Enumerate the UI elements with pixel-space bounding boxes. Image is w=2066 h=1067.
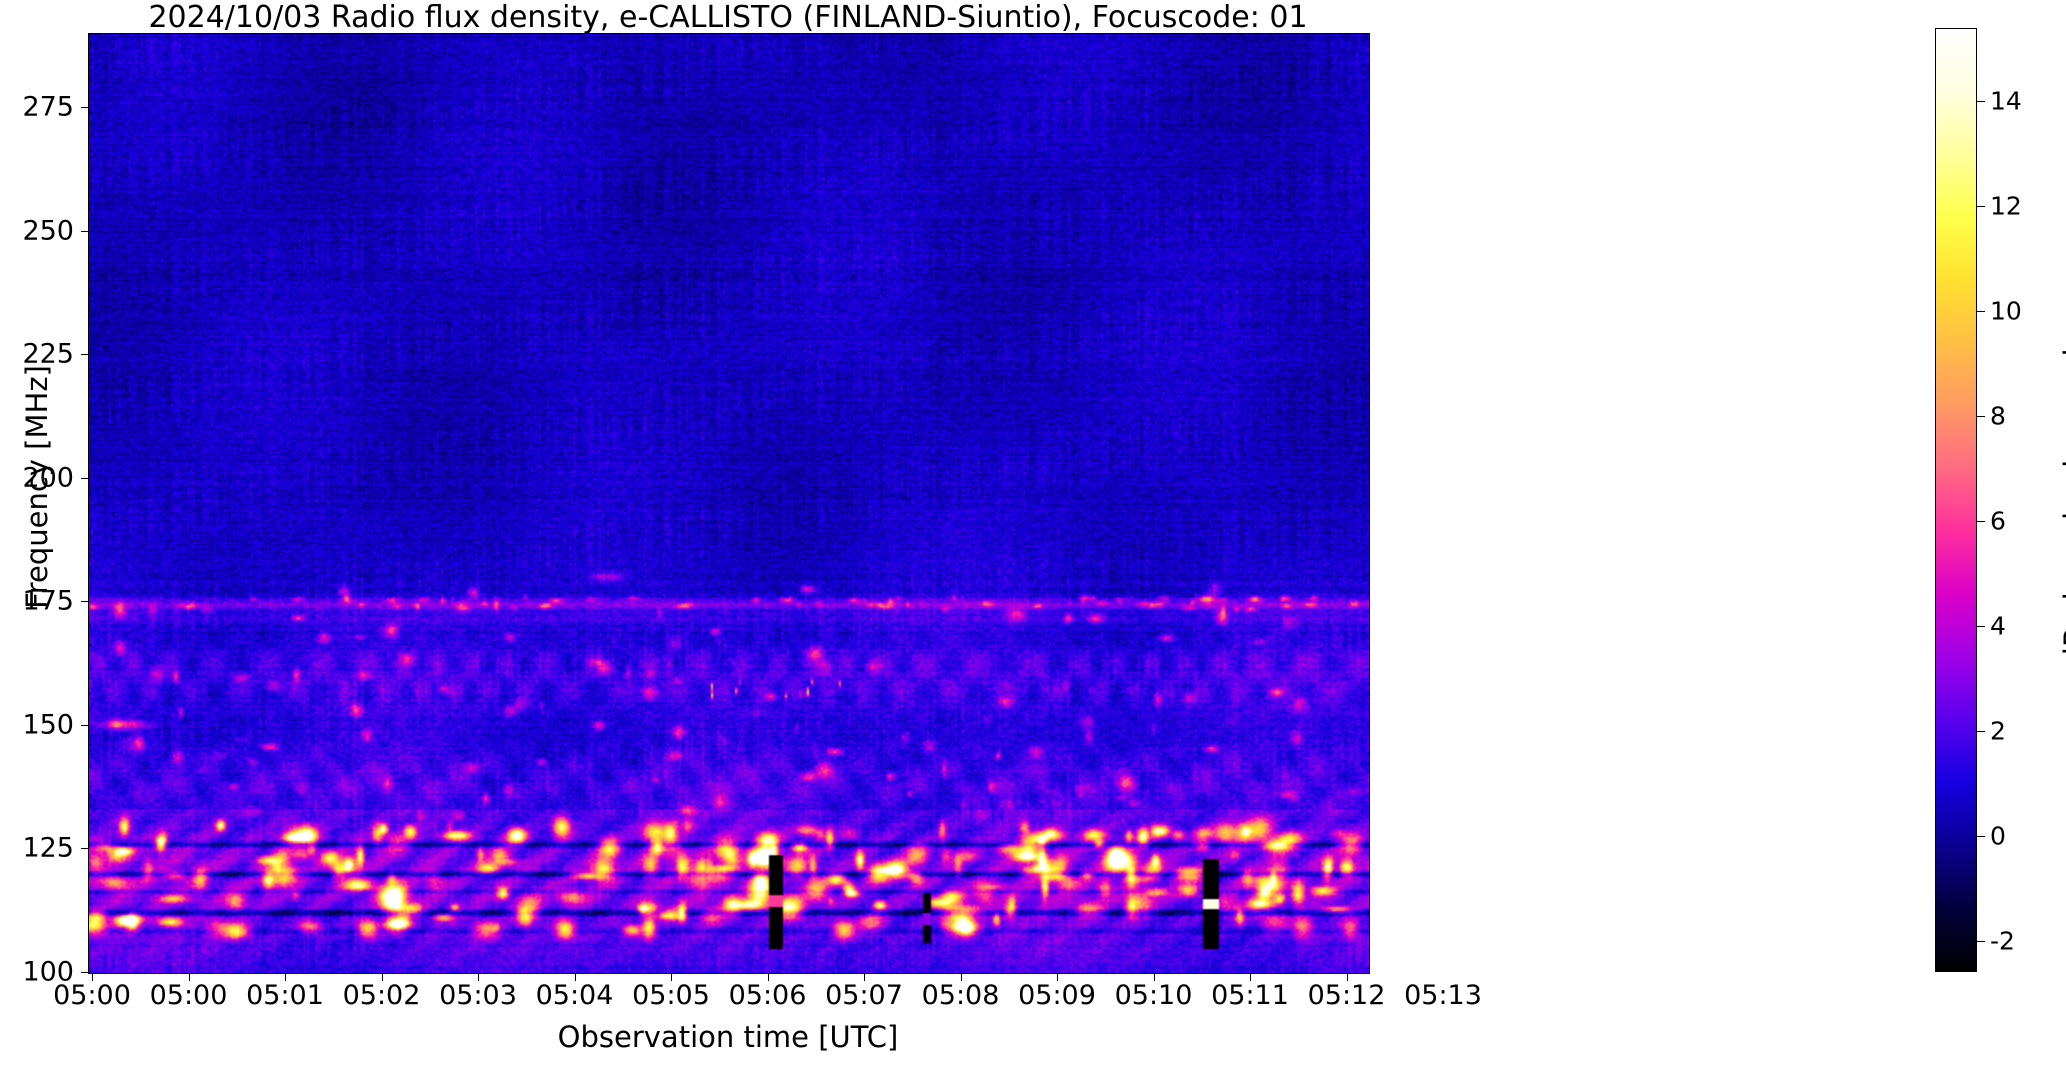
x-tick-mark <box>478 973 479 981</box>
y-tick-mark <box>81 231 89 232</box>
colorbar-tick-label: 14 <box>1990 87 2022 116</box>
x-tick-mark <box>92 973 93 981</box>
spectrogram-plot[interactable] <box>88 33 1370 974</box>
colorbar-tick-label: 6 <box>1990 506 2006 535</box>
y-tick-mark <box>81 107 89 108</box>
x-tick-label: 05:04 <box>536 980 614 1011</box>
colorbar-tick-mark <box>1977 836 1985 837</box>
y-tick-mark <box>81 972 89 973</box>
x-tick-mark <box>1154 973 1155 981</box>
x-tick-mark <box>575 973 576 981</box>
colorbar-tick-mark <box>1977 626 1985 627</box>
x-tick-mark <box>1250 973 1251 981</box>
colorbar-tick-mark <box>1977 416 1985 417</box>
colorbar-tick-mark <box>1977 101 1985 102</box>
x-axis-title: Observation time [UTC] <box>88 1020 1368 1054</box>
colorbar-tick-label: 8 <box>1990 402 2006 431</box>
colorbar-gradient <box>1935 28 1977 972</box>
x-tick-mark <box>864 973 865 981</box>
colorbar-tick-label: 12 <box>1990 192 2022 221</box>
colorbar-title: dB above background <box>2058 227 2066 787</box>
x-tick-label: 05:08 <box>922 980 1000 1011</box>
x-tick-mark <box>189 973 190 981</box>
x-tick-mark <box>1347 973 1348 981</box>
y-tick-label: 125 <box>22 833 74 864</box>
x-tick-label: 05:00 <box>53 980 131 1011</box>
colorbar-tick-mark <box>1977 941 1985 942</box>
colorbar-tick-label: -2 <box>1990 926 2015 955</box>
colorbar-tick-mark <box>1977 206 1985 207</box>
x-tick-label: 05:00 <box>150 980 228 1011</box>
colorbar-tick-mark <box>1977 731 1985 732</box>
x-tick-label: 05:01 <box>246 980 324 1011</box>
y-tick-label: 275 <box>22 92 74 123</box>
x-tick-mark <box>285 973 286 981</box>
x-tick-label: 05:12 <box>1308 980 1386 1011</box>
x-tick-label: 05:07 <box>825 980 903 1011</box>
colorbar-tick-label: 10 <box>1990 297 2022 326</box>
x-tick-label: 05:06 <box>729 980 807 1011</box>
spectrogram-image <box>89 34 1369 973</box>
y-tick-mark <box>81 725 89 726</box>
x-tick-mark <box>671 973 672 981</box>
x-tick-label: 05:10 <box>1115 980 1193 1011</box>
colorbar[interactable] <box>1935 28 1977 972</box>
figure-root: 2024/10/03 Radio flux density, e-CALLIST… <box>0 0 2066 1067</box>
x-tick-mark <box>1057 973 1058 981</box>
x-tick-mark <box>961 973 962 981</box>
x-tick-mark <box>768 973 769 981</box>
y-tick-mark <box>81 601 89 602</box>
colorbar-tick-label: 4 <box>1990 611 2006 640</box>
x-tick-label: 05:11 <box>1211 980 1289 1011</box>
colorbar-tick-mark <box>1977 521 1985 522</box>
x-tick-label: 05:02 <box>343 980 421 1011</box>
colorbar-tick-mark <box>1977 311 1985 312</box>
colorbar-tick-label: 0 <box>1990 821 2006 850</box>
page-title: 2024/10/03 Radio flux density, e-CALLIST… <box>88 2 1368 34</box>
x-tick-label: 05:05 <box>632 980 710 1011</box>
y-tick-mark <box>81 354 89 355</box>
x-tick-label: 05:03 <box>439 980 517 1011</box>
y-tick-mark <box>81 848 89 849</box>
x-tick-label: 05:13 <box>1404 980 1482 1011</box>
y-tick-mark <box>81 478 89 479</box>
y-axis-title: Frequency [MHz] <box>20 237 54 737</box>
colorbar-tick-label: 2 <box>1990 716 2006 745</box>
x-tick-label: 05:09 <box>1018 980 1096 1011</box>
x-tick-mark <box>382 973 383 981</box>
